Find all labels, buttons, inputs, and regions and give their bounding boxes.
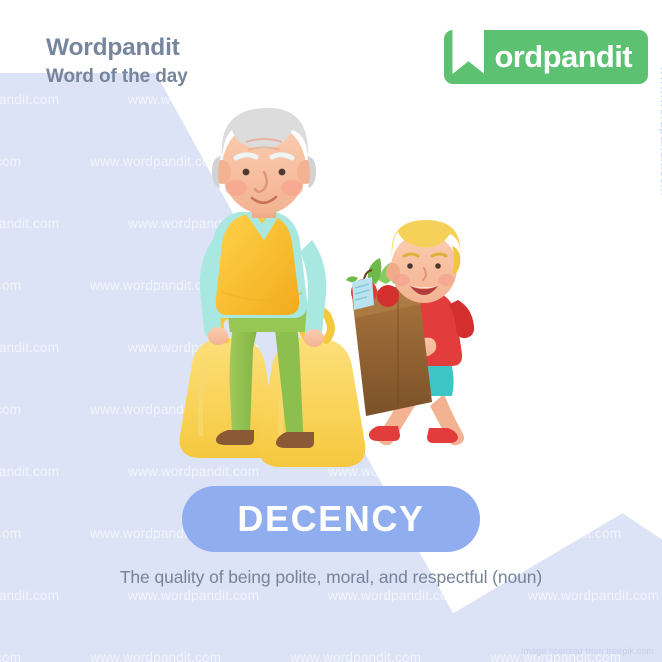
bookmark-icon [452, 25, 484, 74]
page-subtitle: Word of the day [46, 67, 188, 86]
header: Wordpandit Word of the day [46, 36, 188, 86]
logo-wordmark: ordpandit [494, 41, 632, 74]
word-of-the-day-text: DECENCY [237, 498, 424, 540]
wordpandit-logo[interactable]: ordpandit [444, 30, 648, 84]
logo-box: ordpandit [444, 30, 648, 84]
image-credit: Image licensed from freepik.com [521, 646, 654, 656]
word-definition: The quality of being polite, moral, and … [0, 567, 662, 588]
brand-title: Wordpandit [46, 36, 188, 61]
word-badge: DECENCY [182, 486, 480, 552]
word-of-the-day-card: www.wordpandit.comwww.wordpandit.comwww.… [0, 0, 662, 662]
watermark-vertical: www.wordpandit.com [658, 66, 662, 196]
